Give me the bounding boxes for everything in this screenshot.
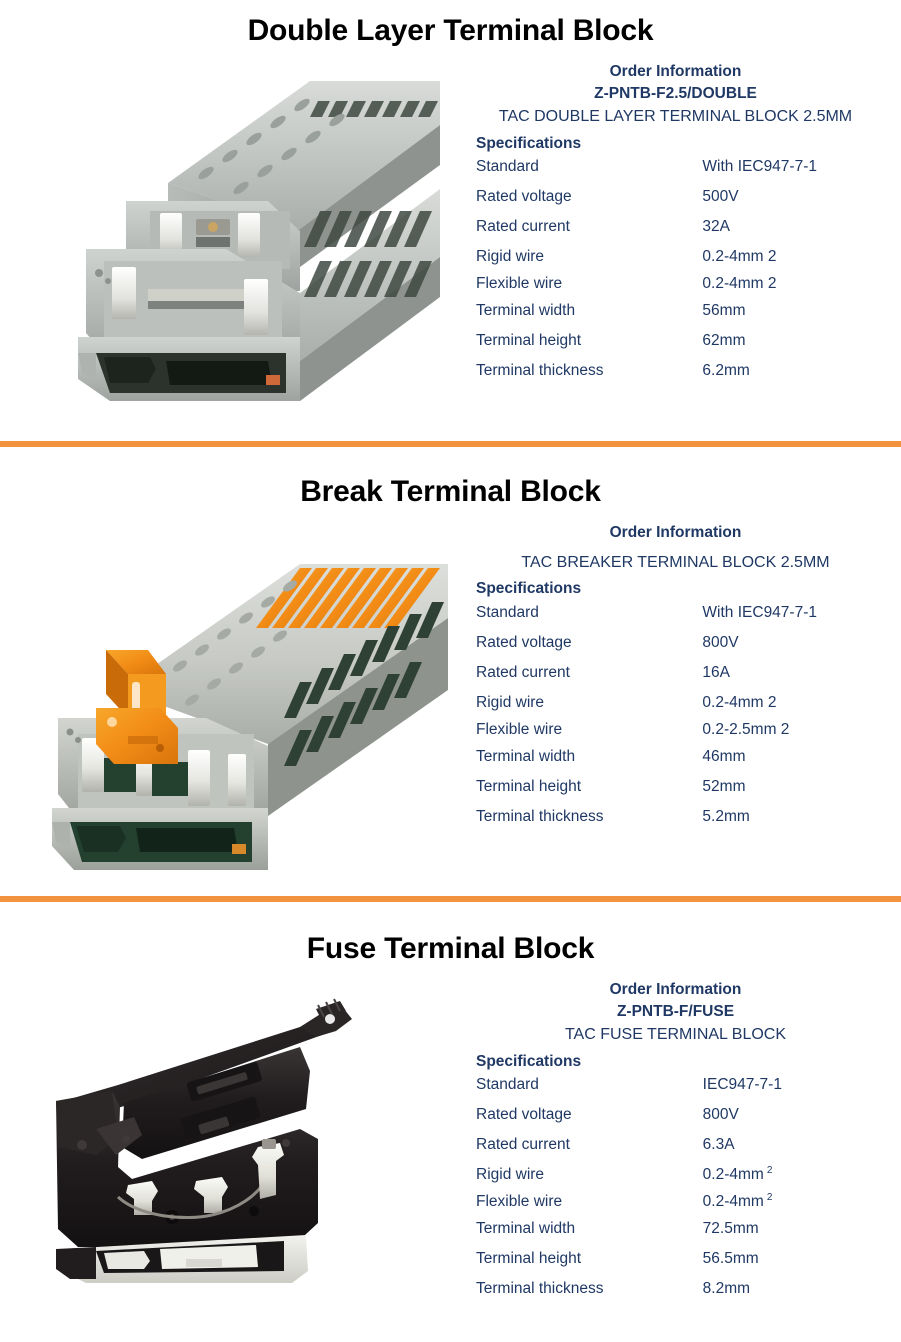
spec-value-rigid-wire: 0.2-4mm 2: [702, 248, 901, 275]
spec-value-rated-current: 6.3A: [703, 1136, 901, 1166]
spec-label-standard: Standard: [476, 604, 702, 634]
spec-value-terminal-width: 46mm: [702, 748, 901, 778]
spec-value-flexible-wire-superscript: 2: [764, 1192, 773, 1203]
spec-value-rated-current: 32A: [702, 218, 901, 248]
spec-value-terminal-thickness: 5.2mm: [702, 808, 901, 838]
spec-value-flexible-wire: 0.2-4mm 2: [702, 275, 901, 302]
spec-label-terminal-height: Terminal height: [476, 1250, 703, 1280]
spec-row-rated-current: Rated current 16A: [476, 664, 901, 694]
order-code: Z-PNTB-F/FUSE: [450, 1001, 901, 1023]
spec-label-standard: Standard: [476, 158, 702, 188]
page-title: Fuse Terminal Block: [0, 932, 901, 965]
spec-value-rated-current: 16A: [702, 664, 901, 694]
specifications-table: Standard With IEC947-7-1 Rated voltage 5…: [476, 158, 901, 392]
spec-row-terminal-height: Terminal height 52mm: [476, 778, 901, 808]
spec-label-rated-current: Rated current: [476, 1136, 703, 1166]
order-information-label: Order Information: [450, 522, 901, 544]
product-section-break: Break Terminal Block: [0, 447, 901, 882]
break-terminal-block-photo: [0, 522, 450, 882]
spec-label-terminal-height: Terminal height: [476, 778, 702, 808]
spec-value-rated-voltage: 800V: [702, 634, 901, 664]
spec-label-flexible-wire: Flexible wire: [476, 275, 702, 302]
spec-row-rated-voltage: Rated voltage 800V: [476, 634, 901, 664]
spec-row-terminal-height: Terminal height 56.5mm: [476, 1250, 901, 1280]
spec-row-terminal-thickness: Terminal thickness 5.2mm: [476, 808, 901, 838]
page-title: Break Terminal Block: [0, 475, 901, 508]
spec-row-terminal-height: Terminal height 62mm: [476, 332, 901, 362]
spec-value-terminal-height: 62mm: [702, 332, 901, 362]
product-section-double-layer: Double Layer Terminal Block: [0, 0, 901, 421]
spec-row-rated-voltage: Rated voltage 800V: [476, 1106, 901, 1136]
order-information-block: Order Information: [450, 522, 901, 550]
spec-label-rated-current: Rated current: [476, 218, 702, 248]
product-photo-container: [0, 979, 450, 1309]
product-info-container: Order Information TAC BREAKER TERMINAL B…: [450, 522, 901, 838]
spec-label-flexible-wire: Flexible wire: [476, 1193, 703, 1220]
page-title: Double Layer Terminal Block: [0, 14, 901, 47]
spec-label-standard: Standard: [476, 1076, 703, 1106]
product-description: TAC FUSE TERMINAL BLOCK: [450, 1026, 901, 1044]
spec-value-flexible-wire: 0.2-4mm2: [703, 1193, 901, 1220]
order-information-label: Order Information: [450, 61, 901, 83]
double-layer-terminal-block-photo: [0, 61, 450, 421]
spec-label-terminal-thickness: Terminal thickness: [476, 362, 702, 392]
order-information-block: Order Information Z-PNTB-F/FUSE: [450, 979, 901, 1022]
spec-value-rated-voltage: 800V: [703, 1106, 901, 1136]
spec-row-standard: Standard With IEC947-7-1: [476, 158, 901, 188]
spec-label-rigid-wire: Rigid wire: [476, 248, 702, 275]
order-information-label: Order Information: [450, 979, 901, 1001]
spec-label-rated-current: Rated current: [476, 664, 702, 694]
spec-label-terminal-thickness: Terminal thickness: [476, 808, 702, 838]
spec-row-terminal-width: Terminal width 56mm: [476, 302, 901, 332]
spec-value-rigid-wire-text: 0.2-4mm: [703, 1166, 764, 1183]
specifications-table: Standard IEC947-7-1 Rated voltage 800V R…: [476, 1076, 901, 1310]
spec-label-rated-voltage: Rated voltage: [476, 1106, 703, 1136]
order-code: Z-PNTB-F2.5/DOUBLE: [450, 83, 901, 105]
spec-row-rigid-wire: Rigid wire 0.2-4mm 2: [476, 694, 901, 721]
spec-label-terminal-width: Terminal width: [476, 748, 702, 778]
specifications-label: Specifications: [476, 1054, 901, 1070]
spec-row-rigid-wire: Rigid wire 0.2-4mm 2: [476, 248, 901, 275]
spec-value-rigid-wire-superscript: 2: [764, 1165, 773, 1176]
spec-value-terminal-thickness: 8.2mm: [703, 1280, 901, 1310]
spec-label-terminal-width: Terminal width: [476, 1220, 703, 1250]
spec-row-terminal-thickness: Terminal thickness 8.2mm: [476, 1280, 901, 1310]
specifications-label: Specifications: [476, 581, 901, 597]
spec-value-terminal-height: 52mm: [702, 778, 901, 808]
product-photo-container: [0, 522, 450, 882]
spec-value-standard: With IEC947-7-1: [702, 604, 901, 634]
fuse-terminal-block-photo: [0, 979, 450, 1309]
spec-label-rigid-wire: Rigid wire: [476, 694, 702, 721]
spec-row-flexible-wire: Flexible wire 0.2-2.5mm 2: [476, 721, 901, 748]
product-info-container: Order Information Z-PNTB-F/FUSE TAC FUSE…: [450, 979, 901, 1310]
spec-value-standard: IEC947-7-1: [703, 1076, 901, 1106]
product-description: TAC BREAKER TERMINAL BLOCK 2.5MM: [450, 554, 901, 572]
spec-row-rated-current: Rated current 6.3A: [476, 1136, 901, 1166]
spec-row-flexible-wire: Flexible wire 0.2-4mm 2: [476, 275, 901, 302]
spec-row-rated-voltage: Rated voltage 500V: [476, 188, 901, 218]
spec-label-terminal-thickness: Terminal thickness: [476, 1280, 703, 1310]
order-information-block: Order Information Z-PNTB-F2.5/DOUBLE: [450, 61, 901, 104]
spec-row-standard: Standard With IEC947-7-1: [476, 604, 901, 634]
product-description: TAC DOUBLE LAYER TERMINAL BLOCK 2.5MM: [450, 108, 901, 126]
spec-row-flexible-wire: Flexible wire 0.2-4mm2: [476, 1193, 901, 1220]
product-info-container: Order Information Z-PNTB-F2.5/DOUBLE TAC…: [450, 61, 901, 392]
spec-value-rigid-wire: 0.2-4mm 2: [702, 694, 901, 721]
spec-label-terminal-width: Terminal width: [476, 302, 702, 332]
spec-row-terminal-width: Terminal width 72.5mm: [476, 1220, 901, 1250]
spec-value-flexible-wire-text: 0.2-4mm: [703, 1193, 764, 1210]
spec-label-terminal-height: Terminal height: [476, 332, 702, 362]
spec-value-rated-voltage: 500V: [702, 188, 901, 218]
product-section-fuse: Fuse Terminal Block: [0, 902, 901, 1310]
spec-row-terminal-width: Terminal width 46mm: [476, 748, 901, 778]
spec-label-rated-voltage: Rated voltage: [476, 634, 702, 664]
spec-value-terminal-height: 56.5mm: [703, 1250, 901, 1280]
spec-label-rated-voltage: Rated voltage: [476, 188, 702, 218]
spec-value-terminal-width: 56mm: [702, 302, 901, 332]
spec-value-rigid-wire: 0.2-4mm2: [703, 1166, 901, 1193]
product-photo-container: [0, 61, 450, 421]
spec-row-standard: Standard IEC947-7-1: [476, 1076, 901, 1106]
spec-row-rated-current: Rated current 32A: [476, 218, 901, 248]
spec-value-terminal-width: 72.5mm: [703, 1220, 901, 1250]
specifications-label: Specifications: [476, 136, 901, 152]
spec-row-rigid-wire: Rigid wire 0.2-4mm2: [476, 1166, 901, 1193]
spec-value-standard: With IEC947-7-1: [702, 158, 901, 188]
spec-value-terminal-thickness: 6.2mm: [702, 362, 901, 392]
spec-label-flexible-wire: Flexible wire: [476, 721, 702, 748]
spec-value-flexible-wire: 0.2-2.5mm 2: [702, 721, 901, 748]
spec-row-terminal-thickness: Terminal thickness 6.2mm: [476, 362, 901, 392]
specifications-table: Standard With IEC947-7-1 Rated voltage 8…: [476, 604, 901, 838]
spec-label-rigid-wire: Rigid wire: [476, 1166, 703, 1193]
